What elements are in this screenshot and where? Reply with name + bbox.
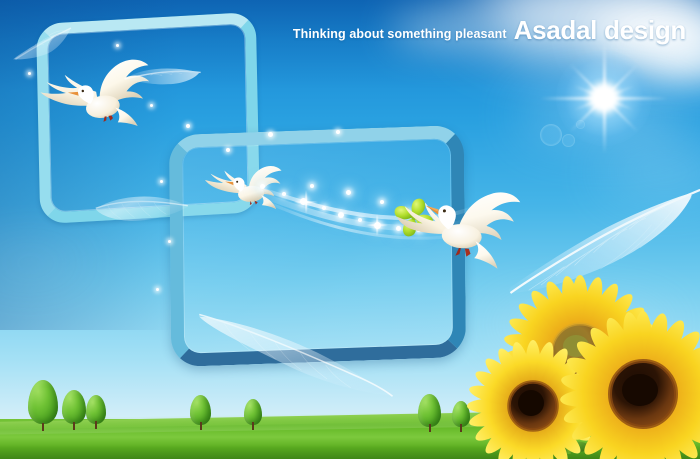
headline-tagline: Thinking about something pleasant <box>293 27 507 41</box>
sparkle-dot <box>28 72 31 75</box>
sparkle-dot <box>156 288 159 291</box>
sparkle-dot <box>150 104 153 107</box>
sparkle-dot <box>160 180 163 183</box>
design-canvas: Thinking about something pleasant Asadal… <box>0 0 700 459</box>
frame-main-blue <box>169 125 466 367</box>
sparkle-dot <box>168 240 171 243</box>
headline: Thinking about something pleasant Asadal… <box>293 17 686 43</box>
sparkle-dot <box>116 44 119 47</box>
sparkle-dot <box>186 124 190 128</box>
grass-shadow <box>0 445 700 459</box>
headline-brand: Asadal design <box>514 17 686 43</box>
sparkle-dot <box>226 148 230 152</box>
sparkle-dot <box>268 132 273 137</box>
sparkle-dot <box>336 130 340 134</box>
